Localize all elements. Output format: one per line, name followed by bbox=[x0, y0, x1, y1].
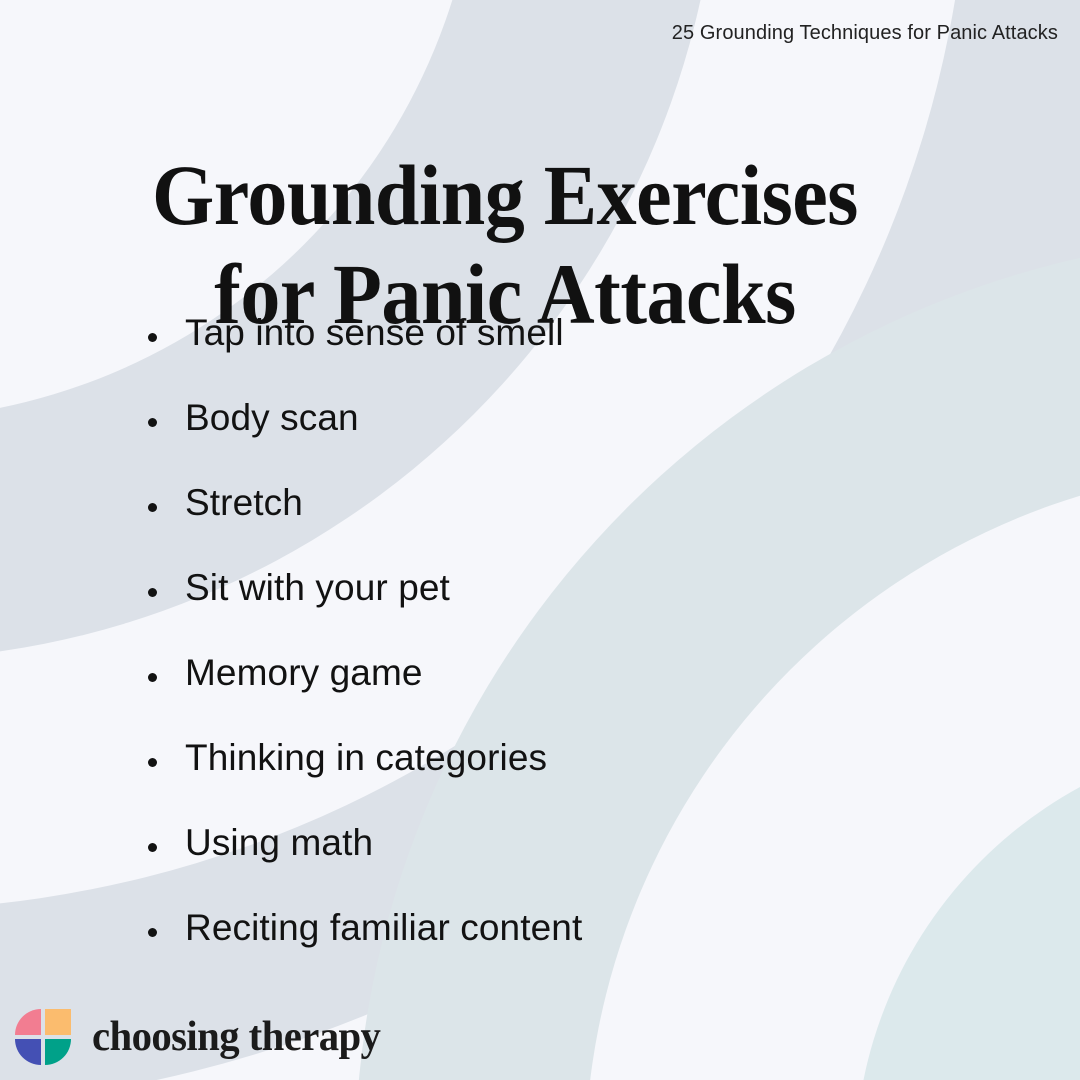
list-item-label: Tap into sense of smell bbox=[185, 312, 564, 353]
list-item-label: Stretch bbox=[185, 482, 303, 523]
poster-canvas: 25 Grounding Techniques for Panic Attack… bbox=[0, 0, 1080, 1080]
grounding-exercises-list: Tap into sense of smell Body scan Stretc… bbox=[148, 312, 908, 992]
brand-lockup[interactable]: choosing therapy bbox=[14, 1008, 389, 1066]
list-item-label: Thinking in categories bbox=[185, 737, 547, 778]
list-item-label: Memory game bbox=[185, 652, 423, 693]
bullet-dot-icon bbox=[148, 758, 157, 767]
page-title-line-1: Grounding Exercises bbox=[35, 146, 974, 246]
list-item-label: Reciting familiar content bbox=[185, 907, 582, 948]
list-item-label: Using math bbox=[185, 822, 373, 863]
bullet-dot-icon bbox=[148, 333, 157, 342]
list-item-label: Sit with your pet bbox=[185, 567, 450, 608]
list-item: Body scan bbox=[148, 397, 908, 482]
bullet-dot-icon bbox=[148, 928, 157, 937]
list-item: Tap into sense of smell bbox=[148, 312, 908, 397]
logo-quadrant-top-right bbox=[45, 1009, 71, 1035]
bullet-dot-icon bbox=[148, 673, 157, 682]
bullet-dot-icon bbox=[148, 503, 157, 512]
bullet-dot-icon bbox=[148, 588, 157, 597]
bullet-dot-icon bbox=[148, 418, 157, 427]
logo-quadrant-bottom-left bbox=[15, 1039, 41, 1065]
list-item: Sit with your pet bbox=[148, 567, 908, 652]
list-item: Stretch bbox=[148, 482, 908, 567]
list-item: Reciting familiar content bbox=[148, 907, 908, 992]
bullet-dot-icon bbox=[148, 843, 157, 852]
eyebrow-source-label: 25 Grounding Techniques for Panic Attack… bbox=[672, 22, 1058, 45]
choosing-therapy-logo-icon bbox=[14, 1008, 72, 1066]
brand-name-wordmark: choosing therapy bbox=[92, 1013, 380, 1061]
logo-quadrant-top-left bbox=[15, 1009, 41, 1035]
list-item: Thinking in categories bbox=[148, 737, 908, 822]
list-item-label: Body scan bbox=[185, 397, 359, 438]
list-item: Memory game bbox=[148, 652, 908, 737]
logo-quadrant-bottom-right bbox=[45, 1039, 71, 1065]
list-item: Using math bbox=[148, 822, 908, 907]
